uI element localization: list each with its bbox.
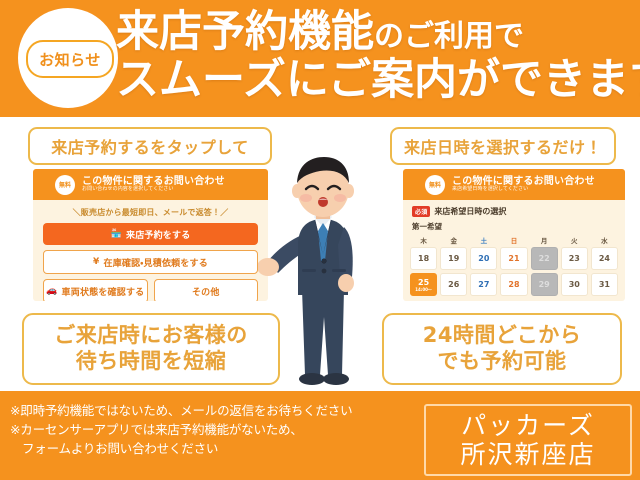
calendar-day[interactable]: 21 [500,247,527,270]
calendar-day[interactable]: 24 [591,247,618,270]
day-number: 22 [539,254,550,263]
step-caption-left: 来店予約するをタップして [28,127,272,165]
day-number: 21 [508,254,519,263]
app-header-subtitle: お問い合わせの内容を選択してください [82,187,225,193]
benefit-right-line-2: でも予約可能 [438,349,567,375]
app-header-text-right: この物件に関するお問い合わせ 来店希望日時を選択してください [452,176,595,193]
reserve-visit-label: 来店予約をする [126,228,190,241]
section-label: 来店希望日時の選択 [434,206,506,217]
store-icon: 🏪 [111,229,122,239]
calendar-day[interactable]: 30 [561,273,588,296]
day-number: 20 [478,254,489,263]
day-number: 27 [478,280,489,289]
weekday-sat: 土 [470,235,497,247]
disclaimer-line-1: ※即時予約機能ではないため、メールの返信をお待ちください [10,401,410,420]
headline-line-1: 来店予約機能のご利用で [116,6,636,56]
calendar-day[interactable]: 26 [440,273,467,296]
stock-quote-label: 在庫確認・見積依頼をする [104,256,208,269]
day-number: 19 [448,254,459,263]
required-badge: 必須 [412,206,430,217]
header-band: お知らせ 来店予約機能のご利用で スムーズにご案内ができます [0,0,640,117]
secondary-button-row: 🚗 車両状態を確認する その他 [43,279,258,301]
yen-icon: ¥ [93,257,99,267]
shop-name-line-1: パッカーズ [461,411,595,441]
headline-emphasis: 来店予約機能 [116,7,374,57]
vehicle-condition-label: 車両状態を確認する [62,285,145,298]
benefit-right-line-1: 24時間どこから [423,323,582,349]
calendar-widget: 木 金 土 日 月 火 水 18 19 20 21 22 23 24 [410,235,618,296]
day-time-slot: 14:00〜 [415,288,432,292]
weekday-tue: 火 [561,235,588,247]
calendar-day[interactable]: 23 [561,247,588,270]
free-badge: 無料 [55,175,75,195]
car-icon: 🚗 [46,286,57,296]
disclaimer-line-3: フォームよりお問い合わせください [10,439,410,458]
weekday-wed: 水 [591,235,618,247]
day-number: 25 [418,278,429,287]
benefit-left-line-2: 待ち時間を短縮 [76,349,227,375]
day-number: 23 [569,254,580,263]
shop-name-line-2: 所沢新座店 [460,440,595,470]
headline-suffix: のご利用で [374,19,524,54]
day-number: 18 [418,254,429,263]
calendar-day-selected[interactable]: 25 14:00〜 [410,273,437,296]
response-promise-text: ＼販売店から最短即日、メールで返答！／ [33,200,268,223]
main-content: 来店予約するをタップして 来店日時を選択するだけ！ 無料 この物件に関するお問い… [0,117,640,391]
calendar-day[interactable]: 20 [470,247,497,270]
notice-badge: お知らせ [26,40,114,78]
day-number: 30 [569,280,580,289]
day-number: 24 [599,254,610,263]
app-mockup-calendar: 無料 この物件に関するお問い合わせ 来店希望日時を選択してください 必須 来店希… [403,169,625,301]
calendar-day-unavailable: 29 [531,273,558,296]
required-section-line: 必須 来店希望日時の選択 [412,206,625,217]
calendar-weekday-header: 木 金 土 日 月 火 水 [410,235,618,247]
disclaimer-text: ※即時予約機能ではないため、メールの返信をお待ちください ※カーセンサーアプリで… [10,401,410,458]
calendar-day[interactable]: 31 [591,273,618,296]
calendar-day-unavailable: 22 [531,247,558,270]
preference-label: 第一希望 [412,221,625,232]
disclaimer-line-2: ※カーセンサーアプリでは来店予約機能がないため、 [10,420,410,439]
app-header-bar-right: 無料 この物件に関するお問い合わせ 来店希望日時を選択してください [403,169,625,200]
day-number: 29 [539,280,550,289]
app-mockup-inquiry: 無料 この物件に関するお問い合わせ お問い合わせの内容を選択してください ＼販売… [33,169,268,301]
other-button[interactable]: その他 [154,279,259,301]
reserve-visit-button[interactable]: 🏪 来店予約をする [43,223,258,245]
app-header-text: この物件に関するお問い合わせ お問い合わせの内容を選択してください [82,176,225,193]
day-number: 31 [599,280,610,289]
weekday-thu: 木 [410,235,437,247]
stock-quote-button[interactable]: ¥ 在庫確認・見積依頼をする [43,250,258,274]
benefit-left-line-1: ご来店時にお客様の [54,323,248,349]
day-number: 28 [508,280,519,289]
step-caption-right: 来店日時を選択するだけ！ [390,127,616,165]
free-badge-right: 無料 [425,175,445,195]
vehicle-condition-button[interactable]: 🚗 車両状態を確認する [43,279,148,301]
weekday-sun: 日 [500,235,527,247]
calendar-day[interactable]: 28 [500,273,527,296]
day-number: 26 [448,280,459,289]
shop-logo: パッカーズ 所沢新座店 [424,404,632,476]
weekday-mon: 月 [531,235,558,247]
calendar-day[interactable]: 18 [410,247,437,270]
other-label: その他 [192,285,220,298]
headline-line-2: スムーズにご案内ができます [116,56,636,104]
weekday-fri: 金 [440,235,467,247]
advertisement-banner: お知らせ 来店予約機能のご利用で スムーズにご案内ができます 来店予約するをタッ… [0,0,640,480]
calendar-day[interactable]: 19 [440,247,467,270]
calendar-week-1: 18 19 20 21 22 23 24 [410,247,618,270]
calendar-day[interactable]: 27 [470,273,497,296]
benefit-box-left: ご来店時にお客様の 待ち時間を短縮 [22,313,280,385]
header-headline: 来店予約機能のご利用で スムーズにご案内ができます [116,6,636,103]
app-header-bar: 無料 この物件に関するお問い合わせ お問い合わせの内容を選択してください [33,169,268,200]
benefit-box-right: 24時間どこから でも予約可能 [382,313,622,385]
app-header-subtitle-right: 来店希望日時を選択してください [452,187,595,193]
calendar-week-2: 25 14:00〜 26 27 28 29 30 31 [410,273,618,296]
